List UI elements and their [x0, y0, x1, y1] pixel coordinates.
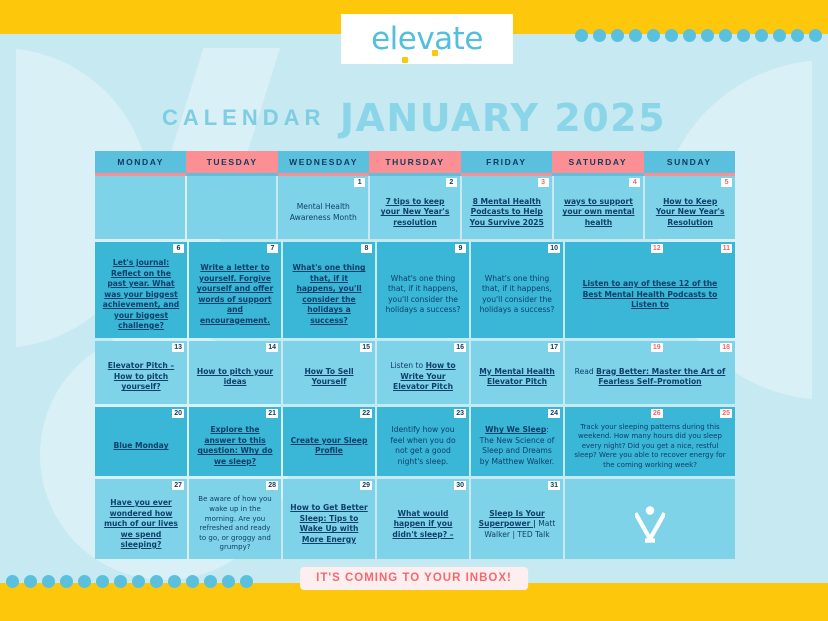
decorative-dot [665, 29, 678, 42]
calendar-cell-day-14[interactable]: 14How to pitch your ideas [189, 341, 281, 404]
calendar-week-row: 1Mental Health Awareness Month27 tips to… [95, 176, 735, 239]
day-number-badge: 16 [454, 343, 466, 352]
calendar-cell-text: Track your sleeping patterns during this… [572, 423, 728, 471]
calendar-cell-text[interactable]: Create your Sleep Profile [290, 436, 368, 457]
calendar-cell-day-23[interactable]: 23Identify how you feel when you do not … [377, 407, 469, 477]
calendar-cell-text[interactable]: Sleep Is Your Superpower | Matt Walker |… [478, 509, 556, 541]
decorative-dot [240, 575, 253, 588]
page-title: CALENDAR JANUARY 2025 [0, 96, 828, 140]
page-title-month: JANUARY 2025 [340, 96, 666, 140]
decorative-dot [60, 575, 73, 588]
calendar-cell-day-18[interactable]: 1819Read Brag Better: Master the Art of … [565, 341, 735, 404]
decorative-dot [611, 29, 624, 42]
calendar-cell-text[interactable]: 7 tips to keep your New Year's resolutio… [377, 197, 453, 229]
day-number-badge: 12 [651, 244, 663, 253]
decorative-dot [78, 575, 91, 588]
calendar-cell-day-17[interactable]: 17My Mental Health Elevator Pitch [471, 341, 563, 404]
day-number-badge: 14 [266, 343, 278, 352]
calendar-cell-day-10[interactable]: 10What's one thing that, if it happens, … [471, 242, 563, 338]
day-number-badge: 20 [172, 409, 184, 418]
decorative-dot [701, 29, 714, 42]
decorative-dot [593, 29, 606, 42]
calendar-cell-text[interactable]: Blue Monday [113, 441, 168, 452]
day-of-week-thursday: THURSDAY [369, 151, 460, 173]
calendar-cell-text[interactable]: How To Sell Yourself [290, 367, 368, 388]
day-of-week-wednesday: WEDNESDAY [278, 151, 369, 173]
calendar-cell-text[interactable]: What's one thing that, if it happens, yo… [290, 263, 368, 326]
calendar-cell-empty [95, 176, 185, 239]
calendar-cell-day-29[interactable]: 29How to Get Better Sleep: Tips to Wake … [283, 479, 375, 559]
calendar-week-row: 27Have you ever wondered how much of our… [95, 479, 735, 559]
bottom-dot-row [6, 575, 253, 588]
calendar-cell-text: What's one thing that, if it happens, yo… [478, 274, 556, 316]
inbox-callout-pill: IT'S COMING TO YOUR INBOX! [300, 567, 528, 590]
calendar-cell-day-5[interactable]: 5How to Keep Your New Year's Resolution [645, 176, 735, 239]
day-number-badge: 26 [651, 409, 663, 418]
day-number-badge: 1 [354, 178, 365, 187]
calendar-cell-text[interactable]: Listen to How to Write Your Elevator Pit… [384, 361, 462, 393]
decorative-dot [222, 575, 235, 588]
decorative-dot [204, 575, 217, 588]
calendar-cell-day-28[interactable]: 28Be aware of how you wake up in the mor… [189, 479, 281, 559]
calendar-cell-text[interactable]: Elevator Pitch – How to pitch yourself? [102, 361, 180, 393]
calendar-cell-text[interactable]: My Mental Health Elevator Pitch [478, 367, 556, 388]
day-number-badge: 5 [721, 178, 732, 187]
decorative-dot [791, 29, 804, 42]
day-number-badge: 11 [721, 244, 732, 253]
calendar-cell-day-20[interactable]: 20Blue Monday [95, 407, 187, 477]
calendar-cell-text: What's one thing that, if it happens, yo… [384, 274, 462, 316]
decorative-dot [683, 29, 696, 42]
calendar-cell-day-2[interactable]: 27 tips to keep your New Year's resoluti… [370, 176, 460, 239]
decorative-dot [168, 575, 181, 588]
decorative-dot [773, 29, 786, 42]
calendar-cell-text[interactable]: Read Brag Better: Master the Art of Fear… [572, 367, 728, 388]
brand-logo-box: elevate [341, 14, 513, 64]
day-number-badge: 28 [266, 481, 278, 490]
decorative-dot [719, 29, 732, 42]
top-dot-row [575, 29, 822, 42]
calendar-cell-day-6[interactable]: 6Let's journal: Reflect on the past year… [95, 242, 187, 338]
calendar-cell-text[interactable]: How to Keep Your New Year's Resolution [652, 197, 728, 229]
day-number-badge: 29 [360, 481, 372, 490]
calendar-cell-day-24[interactable]: 24Why We Sleep: The New Science of Sleep… [471, 407, 563, 477]
calendar-cell-day-11[interactable]: 1112Listen to any of these 12 of the Bes… [565, 242, 735, 338]
calendar-cell-day-16[interactable]: 16Listen to How to Write Your Elevator P… [377, 341, 469, 404]
calendar-cell-day-9[interactable]: 9What's one thing that, if it happens, y… [377, 242, 469, 338]
calendar-cell-text[interactable]: Have you ever wondered how much of our l… [102, 498, 180, 551]
calendar-cell-day-15[interactable]: 15How To Sell Yourself [283, 341, 375, 404]
decorative-dot [6, 575, 19, 588]
calendar-cell-day-21[interactable]: 21Explore the answer to this question: W… [189, 407, 281, 477]
day-number-badge: 31 [548, 481, 560, 490]
decorative-dot [150, 575, 163, 588]
calendar-cell-logo[interactable] [565, 479, 735, 559]
calendar-week-row: 13Elevator Pitch – How to pitch yourself… [95, 341, 735, 404]
day-number-badge: 6 [173, 244, 184, 253]
day-number-badge: 27 [172, 481, 184, 490]
calendar-cell-day-25[interactable]: 2526Track your sleeping patterns during … [565, 407, 735, 477]
day-number-badge: 13 [172, 343, 184, 352]
calendar-cell-day-30[interactable]: 30What would happen if you didn't sleep?… [377, 479, 469, 559]
calendar-cell-text[interactable]: Listen to any of these 12 of the Best Me… [572, 279, 728, 311]
calendar-week-row: 20Blue Monday 21Explore the answer to th… [95, 407, 735, 477]
day-of-week-friday: FRIDAY [461, 151, 552, 173]
day-number-badge: 24 [548, 409, 560, 418]
day-number-badge: 30 [454, 481, 466, 490]
calendar-cell-day-27[interactable]: 27Have you ever wondered how much of our… [95, 479, 187, 559]
day-number-badge: 22 [360, 409, 372, 418]
day-number-badge: 10 [548, 244, 560, 253]
decorative-dot [114, 575, 127, 588]
day-number-badge: 7 [267, 244, 278, 253]
calendar-cell-day-31[interactable]: 31Sleep Is Your Superpower | Matt Walker… [471, 479, 563, 559]
calendar-cell-text[interactable]: How to Get Better Sleep: Tips to Wake Up… [290, 503, 368, 545]
decorative-dot [96, 575, 109, 588]
day-of-week-monday: MONDAY [95, 151, 186, 173]
day-number-badge: 23 [454, 409, 466, 418]
calendar-cell-text[interactable]: 8 Mental Health Podcasts to Help You Sur… [469, 197, 545, 229]
calendar-cell-text[interactable]: Explore the answer to this question: Why… [196, 425, 274, 467]
day-number-badge: 2 [446, 178, 457, 187]
calendar-cell-text: Mental Health Awareness Month [285, 202, 361, 223]
calendar-cell-empty [187, 176, 277, 239]
calendar-cell-day-7[interactable]: 7Write a letter to yourself. Forgive you… [189, 242, 281, 338]
calendar-cell-day-22[interactable]: 22Create your Sleep Profile [283, 407, 375, 477]
day-number-badge: 25 [720, 409, 732, 418]
decorative-dot [42, 575, 55, 588]
calendar-weeks: 1Mental Health Awareness Month27 tips to… [95, 176, 735, 559]
day-number-badge: 17 [548, 343, 560, 352]
calendar-cell-text[interactable]: Why We Sleep: The New Science of Sleep a… [478, 425, 556, 467]
day-of-week-sunday: SUNDAY [644, 151, 735, 173]
calendar-cell-text: Be aware of how you wake up in the morni… [196, 495, 274, 553]
calendar-grid: MONDAYTUESDAYWEDNESDAYTHURSDAYFRIDAYSATU… [95, 151, 735, 559]
decorative-dot [737, 29, 750, 42]
day-number-badge: 8 [361, 244, 372, 253]
day-number-badge: 9 [455, 244, 466, 253]
calendar-cell-text[interactable]: What would happen if you didn't sleep? – [384, 509, 462, 541]
decorative-dot [575, 29, 588, 42]
calendar-cell-text[interactable]: Let's journal: Reflect on the past year.… [102, 258, 180, 332]
day-number-badge: 21 [266, 409, 278, 418]
decorative-dot [132, 575, 145, 588]
day-number-badge: 3 [538, 178, 549, 187]
calendar-cell-text[interactable]: How to pitch your ideas [196, 367, 274, 388]
decorative-dot [24, 575, 37, 588]
day-of-week-tuesday: TUESDAY [186, 151, 277, 173]
decorative-dot [809, 29, 822, 42]
day-number-badge: 19 [651, 343, 663, 352]
decorative-dot [186, 575, 199, 588]
calendar-cell-text[interactable]: Write a letter to yourself. Forgive your… [196, 263, 274, 326]
calendar-week-row: 6Let's journal: Reflect on the past year… [95, 242, 735, 338]
calendar-cell-day-1[interactable]: 1Mental Health Awareness Month [278, 176, 368, 239]
calendar-cell-day-4[interactable]: 4 ways to support your own mental health [554, 176, 644, 239]
calendar-cell-day-13[interactable]: 13Elevator Pitch – How to pitch yourself… [95, 341, 187, 404]
calendar-cell-day-3[interactable]: 38 Mental Health Podcasts to Help You Su… [462, 176, 552, 239]
calendar-cell-day-8[interactable]: 8What's one thing that, if it happens, y… [283, 242, 375, 338]
brand-logo-text: elevate [371, 21, 483, 57]
dot-accent-icon [402, 57, 408, 63]
day-number-badge: 4 [629, 178, 640, 187]
v-checkmark-logo-icon [635, 506, 665, 542]
day-number-badge: 18 [720, 343, 732, 352]
decorative-dot [629, 29, 642, 42]
page-title-small: CALENDAR [162, 105, 325, 130]
decorative-dot [647, 29, 660, 42]
calendar-cell-text[interactable]: ways to support your own mental health [561, 197, 637, 229]
day-of-week-saturday: SATURDAY [552, 151, 643, 173]
calendar-cell-text: Identify how you feel when you do not ge… [384, 425, 462, 467]
day-number-badge: 15 [360, 343, 372, 352]
decorative-dot [755, 29, 768, 42]
dot-accent-icon [432, 50, 438, 56]
day-of-week-header: MONDAYTUESDAYWEDNESDAYTHURSDAYFRIDAYSATU… [95, 151, 735, 173]
